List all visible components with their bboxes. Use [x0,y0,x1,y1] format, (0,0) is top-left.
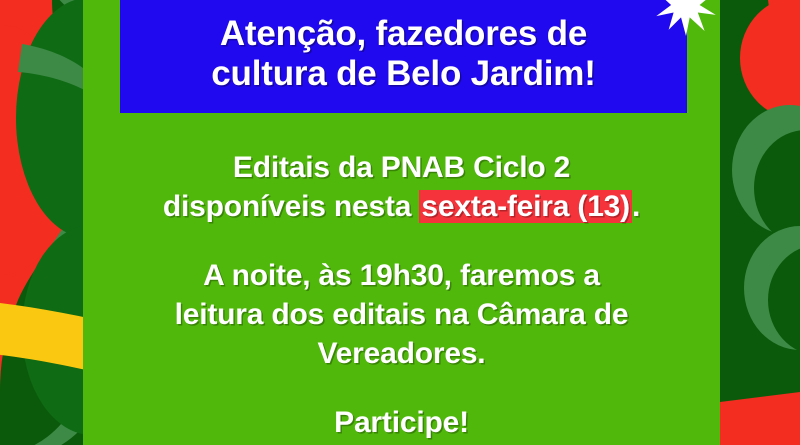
paragraph-editais: Editais da PNAB Ciclo 2 disponíveis nest… [102,148,702,226]
body-copy-block: Editais da PNAB Ciclo 2 disponíveis nest… [83,118,720,445]
noite-line-3: Vereadores. [318,337,486,370]
headline-line-1: Atenção, fazedores de [220,14,587,53]
headline-box: Atenção, fazedores de cultura de Belo Ja… [120,0,687,113]
participe-text: Participe! [334,406,469,439]
editais-line-2-before: disponíveis nesta [163,190,419,223]
noite-line-2: leitura dos editais na Câmara de [175,298,629,331]
paragraph-participe: Participe! [102,403,702,442]
headline-text: Atenção, fazedores de cultura de Belo Ja… [203,14,603,94]
poster-canvas: Atenção, fazedores de cultura de Belo Ja… [0,0,800,445]
paragraph-noite: A noite, às 19h30, faremos a leitura dos… [102,256,702,373]
editais-line-2-after: . [632,190,640,223]
highlight-sexta-feira: sexta-feira (13) [419,190,632,223]
editais-line-1: Editais da PNAB Ciclo 2 [233,151,570,184]
noite-line-1: A noite, às 19h30, faremos a [203,259,600,292]
headline-line-2: cultura de Belo Jardim! [211,54,595,93]
